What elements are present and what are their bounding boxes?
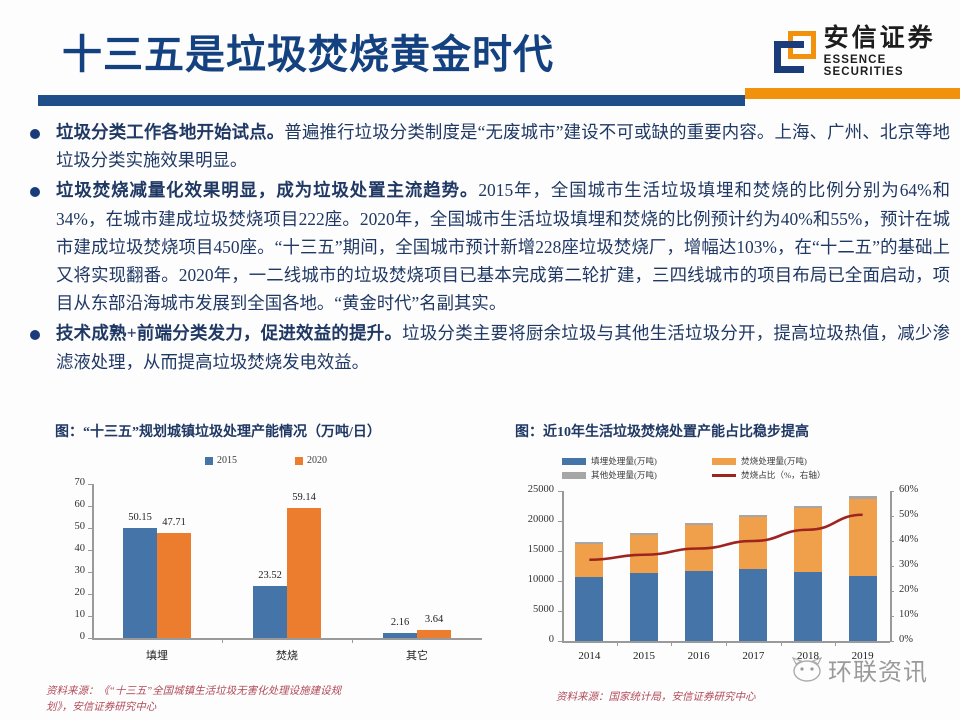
bullet-dot-icon [30,330,40,340]
watermark: 环联资讯 [790,652,928,687]
y-tick-label: 5000 [506,604,554,615]
stack-2015-1 [630,535,658,573]
stack-2016-1 [685,525,713,571]
bullet-paragraph: 垃圾分类工作各地开始试点。普遍推行垃圾分类制度是“无废城市”建设不可或缺的重要内… [56,118,950,174]
legend-label: 焚烧处理量(万吨) [741,455,807,467]
y-axis-line [92,484,94,638]
legend-swatch-icon [562,472,586,479]
stack-2014-2 [575,542,603,544]
stack-2014-1 [575,544,603,576]
bar-其它-2015 [383,633,417,638]
y2-tick-label: 20% [899,584,943,595]
stack-2019-2 [849,496,877,498]
stack-2017-1 [739,517,767,569]
x-tick-mark [617,641,618,646]
stack-2016-0 [685,571,713,641]
stack-2015-2 [630,533,658,535]
y-tick-mark [88,506,92,507]
right-chart-legend: 填埋处理量(万吨)焚烧处理量(万吨)其他处理量(万吨)焚烧占比（%，右轴） [562,455,946,481]
x-tick-mark [781,641,782,646]
legend-swatch-icon [562,458,586,465]
bar-填埋-2015 [123,528,157,638]
bullet-lead: 技术成熟+前端分类发力，促进效益的提升。 [56,323,402,343]
y-tick-mark [558,491,562,492]
y-tick-label: 20000 [506,514,554,525]
y2-tick-label: 30% [899,559,943,570]
logo-mark-icon [772,29,815,75]
slide: 十三五是垃圾焚烧黄金时代 安信证券 ESSENCE SECURITIES 垃圾分… [0,0,960,720]
y-tick-label: 30 [46,565,85,576]
bar-value-label: 3.64 [408,614,460,625]
right-chart-title: 图：近10年生活垃圾焚烧处置产能占比稳步提高 [515,421,809,441]
list-item: 垃圾焚烧减量化效果明显，成为垃圾处置主流趋势。2015年，全国城市生活垃圾填埋和… [24,176,950,317]
x-tick-mark [222,638,223,643]
y2-tick-mark [890,541,894,542]
y2-tick-mark [890,516,894,517]
y-tick-mark [558,581,562,582]
bullet-list: 垃圾分类工作各地开始试点。普遍推行垃圾分类制度是“无废城市”建设不可或缺的重要内… [24,118,950,378]
stack-2018-0 [794,572,822,641]
bar-焚烧-2020 [287,508,321,638]
stack-2019-0 [849,576,877,641]
stack-2018-1 [794,508,822,572]
bullet-lead: 垃圾分类工作各地开始试点。 [56,122,284,142]
y-tick-label: 0 [506,634,554,645]
legend-item-0: 填埋处理量(万吨) [562,455,712,467]
y-tick-mark [88,616,92,617]
y-tick-label: 25000 [506,484,554,495]
y2-tick-label: 10% [899,609,943,620]
y2-tick-mark [890,491,894,492]
y-tick-mark [558,551,562,552]
cat-face-icon [790,656,824,684]
y-tick-mark [88,638,92,639]
bar-焚烧-2015 [253,586,287,638]
left-chart: 20152020 01020304050607050.1547.71填埋23.5… [46,455,486,680]
legend-label: 填埋处理量(万吨) [591,455,657,467]
bullet-lead: 垃圾焚烧减量化效果明显，成为垃圾处置主流趋势。 [56,180,478,200]
y-tick-label: 60 [46,499,85,510]
logo-name-en: ESSENCE SECURITIES [824,55,960,78]
header-rule-orange [745,88,960,99]
y2-tick-mark [890,566,894,567]
x-category-label: 其它 [372,647,462,663]
stack-2016-2 [685,523,713,525]
y-tick-mark [88,572,92,573]
legend-swatch-icon [712,458,736,465]
y2-tick-label: 60% [899,484,943,495]
bar-value-label: 59.14 [278,492,330,503]
x-category-label: 填埋 [112,647,202,663]
y-tick-label: 10000 [506,574,554,585]
y-tick-label: 10 [46,609,85,620]
y-axis-line [562,491,564,641]
left-chart-source: 资料来源：《“十三五”全国城镇生活垃圾无害化处理设施建设规划》，安信证券研究中心 [46,684,346,716]
legend-item-2: 其他处理量(万吨) [562,469,712,481]
left-chart-legend: 20152020 [46,455,486,466]
legend-swatch-icon [205,457,213,465]
y-tick-mark [558,521,562,522]
y2-tick-mark [890,641,894,642]
right-chart-source: 资料来源：国家统计局，安信证券研究中心 [556,690,906,706]
logo-name-cn: 安信证券 [824,26,960,51]
left-chart-title: 图：“十三五”规划城镇垃圾处理产能情况（万吨/日） [55,421,381,441]
y-tick-label: 40 [46,543,85,554]
x-category-label: 焚烧 [242,647,332,663]
legend-line-icon [712,474,736,477]
list-item: 垃圾分类工作各地开始试点。普遍推行垃圾分类制度是“无废城市”建设不可或缺的重要内… [24,118,950,174]
y-tick-label: 20 [46,587,85,598]
stack-2015-0 [630,573,658,641]
stack-2017-2 [739,515,767,517]
y-tick-mark [88,594,92,595]
bullet-dot-icon [30,129,40,139]
stack-2019-1 [849,499,877,576]
y-tick-mark [88,484,92,485]
y-tick-mark [558,611,562,612]
y2-tick-label: 0% [899,634,943,645]
x-tick-mark [835,641,836,646]
stack-2017-0 [739,569,767,641]
legend-item-2020: 2020 [295,455,327,466]
brand-logo: 安信证券 ESSENCE SECURITIES [772,26,960,78]
y2-tick-mark [890,616,894,617]
y-tick-label: 50 [46,521,85,532]
legend-item-1: 焚烧处理量(万吨) [712,455,882,467]
y-tick-mark [88,550,92,551]
x-axis-line [92,638,482,640]
bar-其它-2020 [417,630,451,638]
bar-value-label: 47.71 [148,517,200,528]
y2-tick-label: 50% [899,509,943,520]
legend-item-3: 焚烧占比（%，右轴） [712,469,882,481]
y-tick-label: 0 [46,631,85,642]
page-title: 十三五是垃圾焚烧黄金时代 [62,22,554,80]
legend-item-2015: 2015 [205,455,237,466]
x-tick-mark [671,641,672,646]
x-tick-mark [352,638,353,643]
y-tick-mark [558,641,562,642]
legend-label: 焚烧占比（%，右轴） [741,469,826,481]
right-chart-plot: 05000100001500020000250000%10%20%30%40%5… [506,483,946,679]
bullet-paragraph: 技术成熟+前端分类发力，促进效益的提升。垃圾分类主要将厨余垃圾与其他生活垃圾分开… [56,319,950,375]
list-item: 技术成熟+前端分类发力，促进效益的提升。垃圾分类主要将厨余垃圾与其他生活垃圾分开… [24,319,950,375]
y2-tick-mark [890,591,894,592]
legend-label: 2020 [307,455,327,466]
watermark-label: 环联资讯 [828,652,928,687]
bullet-paragraph: 垃圾焚烧减量化效果明显，成为垃圾处置主流趋势。2015年，全国城市生活垃圾填埋和… [56,176,950,317]
left-chart-plot: 01020304050607050.1547.71填埋23.5259.14焚烧2… [46,470,486,670]
stack-2018-2 [794,506,822,508]
y-tick-label: 70 [46,477,85,488]
header-rule-blue [38,95,745,106]
y2-tick-label: 40% [899,534,943,545]
stack-2014-0 [575,577,603,641]
legend-swatch-icon [295,457,303,465]
legend-label: 其他处理量(万吨) [591,469,657,481]
bullet-dot-icon [30,187,40,197]
legend-label: 2015 [217,455,237,466]
right-chart: 填埋处理量(万吨)焚烧处理量(万吨)其他处理量(万吨)焚烧占比（%，右轴） 05… [506,455,946,680]
y-tick-mark [88,528,92,529]
y-tick-label: 15000 [506,544,554,555]
bar-填埋-2020 [157,533,191,638]
x-tick-mark [726,641,727,646]
